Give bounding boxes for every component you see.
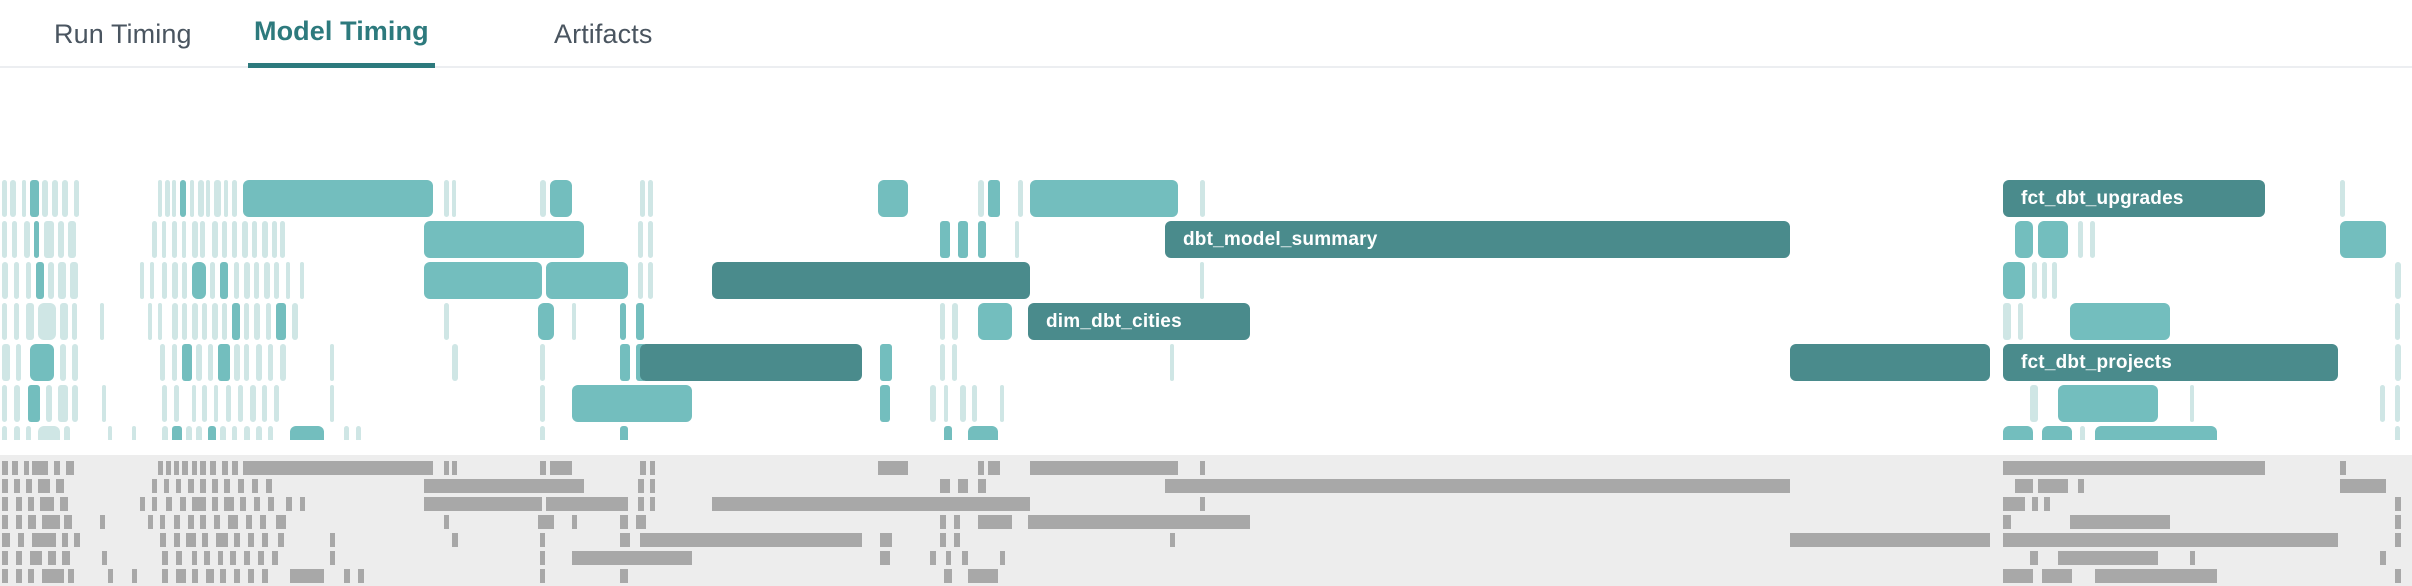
gantt-bar[interactable]	[192, 303, 198, 340]
minimap-bar	[240, 497, 246, 511]
gantt-bar[interactable]	[222, 221, 227, 258]
minimap-bar	[2340, 461, 2346, 475]
minimap-bar	[174, 461, 179, 475]
gantt-bar[interactable]	[226, 385, 231, 422]
gantt-bar[interactable]	[2190, 385, 2194, 422]
gantt-bar[interactable]	[186, 426, 192, 440]
gantt-bar[interactable]	[978, 180, 984, 217]
gantt-bar[interactable]	[356, 426, 361, 440]
minimap-bar	[234, 533, 240, 547]
gantt-bar[interactable]	[160, 344, 165, 381]
gantt-bar[interactable]	[172, 426, 182, 440]
gantt-bar[interactable]	[62, 180, 68, 217]
gantt-bar[interactable]	[70, 262, 78, 299]
gantt-bar[interactable]	[2042, 262, 2047, 299]
gantt-bar[interactable]	[196, 344, 202, 381]
tab-run-timing[interactable]: Run Timing	[48, 0, 198, 68]
gantt-bar[interactable]	[214, 180, 221, 217]
gantt-bar[interactable]	[272, 221, 277, 258]
gantt-bar[interactable]	[26, 426, 31, 440]
gantt-bar[interactable]	[16, 344, 21, 381]
gantt-bar[interactable]	[36, 262, 44, 299]
gantt-bar[interactable]	[2078, 221, 2083, 258]
gantt-bar[interactable]	[1015, 221, 1019, 258]
gantt-bar[interactable]	[256, 344, 262, 381]
gantt-bar[interactable]	[968, 426, 998, 440]
gantt-bar[interactable]	[234, 344, 240, 381]
gantt-bar[interactable]	[174, 385, 179, 422]
gantt-bar[interactable]	[1170, 344, 1174, 381]
gantt-bar[interactable]	[250, 385, 256, 422]
gantt-bar[interactable]	[22, 180, 26, 217]
gantt-bar[interactable]	[182, 221, 186, 258]
minimap-bar	[28, 515, 36, 529]
gantt-bar[interactable]	[1000, 385, 1004, 422]
minimap-bar	[152, 497, 157, 511]
gantt-bar[interactable]	[540, 426, 545, 440]
minimap-bar	[224, 479, 230, 493]
minimap-bar	[228, 515, 238, 529]
gantt-bar[interactable]	[572, 385, 692, 422]
gantt-bar[interactable]	[196, 426, 202, 440]
gantt-bar[interactable]	[940, 303, 945, 340]
minimap-bar	[54, 461, 60, 475]
minimap-bar	[2, 461, 8, 475]
minimap-bar	[244, 551, 250, 565]
gantt-bar[interactable]	[244, 262, 250, 299]
gantt-bar[interactable]	[274, 262, 279, 299]
gantt-bar[interactable]	[192, 262, 206, 299]
gantt-bar[interactable]	[182, 303, 187, 340]
minimap-bar	[192, 461, 197, 475]
gantt-bar[interactable]	[242, 221, 248, 258]
gantt-bar[interactable]	[2, 262, 8, 299]
minimap-bar	[930, 551, 936, 565]
gantt-bar[interactable]	[2090, 221, 2095, 258]
gantt-bar[interactable]	[58, 262, 66, 299]
gantt-bar[interactable]	[572, 303, 576, 340]
gantt-bar[interactable]	[2003, 303, 2011, 340]
gantt-bar[interactable]	[58, 221, 64, 258]
gantt-bar[interactable]	[2395, 303, 2400, 340]
gantt-bar[interactable]	[1790, 344, 1990, 381]
gantt-bar[interactable]	[232, 426, 237, 440]
minimap-bar	[978, 479, 986, 493]
gantt-bar[interactable]	[2395, 385, 2400, 422]
gantt-bar[interactable]	[14, 426, 20, 440]
minimap-bar	[424, 479, 584, 493]
minimap-bar	[640, 533, 862, 547]
tab-artifacts[interactable]: Artifacts	[548, 0, 658, 68]
gantt-bar[interactable]	[222, 303, 227, 340]
minimap-bar	[66, 461, 74, 475]
minimap-bar	[330, 551, 335, 565]
gantt-bar[interactable]	[1030, 180, 1178, 217]
gantt-bar[interactable]	[330, 385, 334, 422]
gantt-bar[interactable]	[1200, 180, 1205, 217]
minimap-bar	[2003, 461, 2265, 475]
gantt-bar[interactable]	[2032, 262, 2037, 299]
gantt-bar[interactable]	[2080, 426, 2085, 440]
minimap-bar	[2395, 533, 2401, 547]
gantt-plot-area[interactable]: fct_dbt_upgradesdbt_model_summarydim_dbt…	[0, 70, 2412, 420]
gantt-bar[interactable]	[648, 262, 653, 299]
gantt-bar[interactable]	[940, 344, 945, 381]
gantt-bar[interactable]	[286, 262, 290, 299]
minimap-bar	[940, 533, 946, 547]
gantt-bar[interactable]	[2052, 262, 2057, 299]
gantt-bar[interactable]	[254, 303, 260, 340]
minimap-bar	[2, 551, 8, 565]
gantt-bar[interactable]	[638, 262, 643, 299]
gantt-bar[interactable]	[2, 426, 7, 440]
gantt-bar[interactable]	[944, 385, 948, 422]
gantt-bar[interactable]	[262, 385, 267, 422]
gantt-bar[interactable]	[24, 221, 30, 258]
gantt-bar[interactable]	[60, 303, 68, 340]
gantt-bar[interactable]	[2, 344, 10, 381]
gantt-bar[interactable]	[540, 385, 545, 422]
gantt-bar[interactable]	[540, 344, 545, 381]
gantt-bar[interactable]	[26, 262, 31, 299]
minimap-bar	[278, 533, 284, 547]
minimap-bar	[2, 533, 10, 547]
gantt-bar[interactable]	[30, 180, 39, 217]
gantt-bar[interactable]	[198, 180, 204, 217]
gantt-bar-label: fct_dbt_upgrades	[2021, 188, 2184, 210]
gantt-bar[interactable]	[158, 180, 162, 217]
gantt-bar[interactable]	[102, 385, 106, 422]
gantt-bar[interactable]	[300, 262, 304, 299]
gantt-bar[interactable]	[640, 344, 862, 381]
gantt-bar[interactable]	[180, 180, 186, 217]
gantt-bar[interactable]	[108, 426, 112, 440]
gantt-bar[interactable]	[268, 344, 273, 381]
gantt-bar[interactable]	[256, 426, 262, 440]
minimap-bar	[1165, 479, 1790, 493]
gantt-bar[interactable]	[238, 385, 243, 422]
minimap-bar	[32, 461, 48, 475]
gantt-bar[interactable]	[648, 180, 653, 217]
gantt-bar[interactable]	[14, 303, 19, 340]
gantt-bar[interactable]	[34, 221, 39, 258]
gantt-bar[interactable]	[162, 262, 167, 299]
gantt-bar[interactable]	[2058, 385, 2158, 422]
minimap-bar	[620, 515, 628, 529]
minimap-bar	[424, 497, 542, 511]
gantt-bar[interactable]	[100, 303, 104, 340]
gantt-bar[interactable]	[44, 221, 54, 258]
gantt-bar[interactable]	[266, 303, 271, 340]
gantt-bar[interactable]	[224, 180, 228, 217]
gantt-bar[interactable]	[2340, 180, 2345, 217]
gantt-bar[interactable]	[264, 262, 270, 299]
gantt-bar[interactable]	[208, 344, 213, 381]
gantt-bar[interactable]	[452, 180, 456, 217]
gantt-bar[interactable]	[2042, 426, 2072, 440]
gantt-bar[interactable]	[152, 221, 157, 258]
minimap-bar	[16, 515, 22, 529]
minimap-bar	[2003, 515, 2011, 529]
gantt-bar[interactable]	[2003, 426, 2033, 440]
gantt-bar[interactable]	[958, 221, 968, 258]
gantt-bar[interactable]	[2003, 262, 2025, 299]
gantt-bar[interactable]	[424, 221, 584, 258]
gantt-bar[interactable]	[2038, 221, 2068, 258]
minimap-bar	[540, 533, 545, 547]
gantt-bar[interactable]	[452, 344, 458, 381]
gantt-bar[interactable]	[162, 221, 166, 258]
gantt-bar[interactable]	[214, 385, 218, 422]
gantt-bar[interactable]	[58, 385, 68, 422]
gantt-bar[interactable]	[280, 221, 285, 258]
gantt-bar[interactable]	[42, 180, 48, 217]
minimap-bar	[64, 515, 72, 529]
gantt-bar[interactable]	[172, 221, 177, 258]
gantt-bar[interactable]	[254, 262, 259, 299]
gantt-bar[interactable]	[2018, 303, 2023, 340]
tab-model-timing[interactable]: Model Timing	[248, 0, 435, 68]
gantt-bar[interactable]	[878, 180, 908, 217]
gantt-bar[interactable]	[978, 303, 1012, 340]
minimap-bar	[272, 551, 278, 565]
minimap-bar	[880, 533, 892, 547]
minimap-bar	[1170, 533, 1175, 547]
gantt-bar[interactable]	[72, 303, 77, 340]
gantt-bar[interactable]	[952, 344, 957, 381]
gantt-bar[interactable]	[14, 262, 19, 299]
gantt-bar[interactable]	[2070, 303, 2170, 340]
gantt-bar[interactable]	[232, 221, 237, 258]
gantt-bar[interactable]	[424, 262, 542, 299]
gantt-bar[interactable]	[940, 221, 950, 258]
gantt-bar[interactable]	[48, 262, 54, 299]
gantt-bar[interactable]	[2015, 221, 2033, 258]
gantt-bar[interactable]	[640, 180, 645, 217]
gantt-bar[interactable]	[978, 221, 986, 258]
gantt-bar[interactable]	[60, 344, 66, 381]
gantt-bar[interactable]	[162, 385, 167, 422]
gantt-bar[interactable]	[2, 385, 7, 422]
gantt-bar[interactable]	[202, 303, 207, 340]
minimap-bar	[238, 479, 244, 493]
gantt-bar[interactable]	[52, 180, 58, 217]
minimap-bar	[258, 551, 264, 565]
minimap-bar	[2042, 569, 2072, 583]
gantt-bar[interactable]	[274, 385, 279, 422]
gantt-bar[interactable]	[10, 180, 16, 217]
gantt-bar[interactable]	[880, 385, 890, 422]
gantt-bar[interactable]	[208, 426, 216, 440]
minimap-bar	[650, 461, 655, 475]
gantt-bar[interactable]	[252, 221, 257, 258]
minimap-bar	[2340, 479, 2386, 493]
gantt-bar[interactable]	[64, 426, 70, 440]
minimap-bar	[2395, 497, 2401, 511]
minimap-bar	[40, 497, 54, 511]
minimap-bar	[16, 497, 22, 511]
gantt-bar[interactable]	[244, 426, 250, 440]
gantt-bar[interactable]	[2395, 344, 2401, 381]
gantt-bar[interactable]	[2, 303, 7, 340]
gantt-bar[interactable]	[182, 262, 187, 299]
gantt-bar[interactable]	[172, 344, 177, 381]
gantt-bar[interactable]	[243, 180, 433, 217]
minimap-bar	[160, 515, 165, 529]
gantt-bar[interactable]	[1200, 262, 1204, 299]
gantt-bar[interactable]	[290, 426, 324, 440]
minimap-bar	[232, 461, 238, 475]
gantt-bar[interactable]	[72, 385, 78, 422]
minimap-bar	[174, 515, 180, 529]
minimap-bar	[2, 479, 8, 493]
gantt-bar[interactable]	[172, 180, 176, 217]
gantt-bar[interactable]	[344, 426, 349, 440]
gantt-bar[interactable]	[68, 221, 76, 258]
minimap-bar	[38, 479, 50, 493]
gantt-bar[interactable]	[28, 385, 40, 422]
gantt-bar[interactable]	[165, 180, 170, 217]
gantt-bar[interactable]	[268, 426, 273, 440]
gantt-bar[interactable]	[212, 221, 218, 258]
gantt-bar-dim_dbt_cities[interactable]: dim_dbt_cities	[1028, 303, 1250, 340]
gantt-bar[interactable]	[2030, 385, 2038, 422]
minimap-bar	[2190, 551, 2195, 565]
gantt-bar[interactable]	[262, 221, 268, 258]
minimap-bar	[540, 551, 545, 565]
gantt-bar[interactable]	[620, 426, 628, 440]
gantt-bar[interactable]	[220, 262, 228, 299]
minimap-bar	[68, 569, 74, 583]
gantt-bar[interactable]	[210, 262, 215, 299]
gantt-bar[interactable]	[2380, 385, 2385, 422]
gantt-bar[interactable]	[232, 303, 240, 340]
gantt-bar[interactable]	[172, 262, 178, 299]
gantt-bar[interactable]	[150, 262, 154, 299]
minimap-bar	[946, 551, 951, 565]
gantt-bar[interactable]	[148, 303, 152, 340]
gantt-bar[interactable]	[172, 303, 178, 340]
gantt-bar[interactable]	[2395, 262, 2401, 299]
gantt-bar[interactable]	[200, 221, 205, 258]
gantt-bar[interactable]	[444, 180, 449, 217]
gantt-bar[interactable]	[212, 303, 218, 340]
gantt-bar[interactable]	[46, 385, 52, 422]
gantt-bar[interactable]	[38, 303, 56, 340]
minimap-bar	[940, 515, 946, 529]
gantt-bar[interactable]	[2340, 221, 2386, 258]
gantt-bar[interactable]	[234, 262, 239, 299]
gantt-bar[interactable]	[190, 180, 194, 217]
minimap-bar	[1200, 497, 1205, 511]
gantt-bar[interactable]	[38, 426, 60, 440]
gantt-bar[interactable]	[158, 303, 162, 340]
gantt-bar[interactable]	[952, 303, 958, 340]
tab-model-timing-label: Model Timing	[254, 16, 429, 47]
gantt-bar[interactable]	[930, 385, 936, 422]
gantt-bar[interactable]	[330, 344, 334, 381]
gantt-bar[interactable]	[292, 303, 298, 340]
minimap-bar	[176, 479, 181, 493]
gantt-bar[interactable]	[140, 262, 144, 299]
gantt-bar[interactable]	[244, 303, 249, 340]
gantt-bar[interactable]	[2, 180, 7, 217]
gantt-bar[interactable]	[206, 180, 210, 217]
gantt-bar[interactable]	[132, 426, 136, 440]
gantt-bar[interactable]	[192, 385, 196, 422]
gantt-bar[interactable]	[14, 385, 20, 422]
minimap-bar	[2003, 569, 2033, 583]
gantt-bar[interactable]	[636, 303, 644, 340]
gantt-bar[interactable]	[280, 344, 286, 381]
gantt-bar[interactable]	[1018, 180, 1023, 217]
gantt-bar[interactable]	[74, 180, 79, 217]
minimap-bar	[2, 569, 8, 583]
gantt-bar[interactable]	[620, 344, 630, 381]
minimap-bar	[246, 515, 252, 529]
gantt-bar[interactable]	[232, 180, 237, 217]
gantt-bar[interactable]	[638, 221, 643, 258]
gantt-bar[interactable]	[182, 344, 192, 381]
gantt-bar-fct_dbt_upgrades[interactable]: fct_dbt_upgrades	[2003, 180, 2265, 217]
minimap-bar	[202, 533, 208, 547]
gantt-bar[interactable]	[276, 303, 286, 340]
minimap-bar	[978, 515, 1012, 529]
gantt-bar[interactable]	[648, 221, 653, 258]
gantt-bar[interactable]	[26, 303, 34, 340]
gantt-bar[interactable]	[546, 262, 628, 299]
gantt-bar[interactable]	[960, 385, 966, 422]
gantt-bar[interactable]	[540, 180, 546, 217]
minimap-bar	[358, 569, 364, 583]
minimap-bar	[216, 533, 228, 547]
gantt-bar[interactable]	[972, 385, 977, 422]
gantt-bar[interactable]	[162, 426, 168, 440]
minimap-bar	[42, 569, 64, 583]
gantt-bar[interactable]	[2, 221, 7, 258]
model-timing-gantt-chart[interactable]: fct_dbt_upgradesdbt_model_summarydim_dbt…	[0, 70, 2412, 440]
gantt-bar-dbt_model_summary[interactable]: dbt_model_summary	[1165, 221, 1790, 258]
minimap-bar	[248, 533, 254, 547]
gantt-bar[interactable]	[202, 385, 207, 422]
gantt-bar[interactable]	[712, 262, 1030, 299]
gantt-bar[interactable]	[218, 344, 230, 381]
gantt-bar[interactable]	[880, 344, 892, 381]
gantt-bar[interactable]	[192, 221, 198, 258]
minimap-bar	[1790, 533, 1990, 547]
gantt-bar[interactable]	[444, 303, 449, 340]
gantt-bar[interactable]	[220, 426, 226, 440]
gantt-bar[interactable]	[30, 344, 54, 381]
gantt-bar[interactable]	[2395, 426, 2400, 440]
gantt-bar[interactable]	[538, 303, 554, 340]
minimap-bar	[276, 515, 286, 529]
gantt-bar-fct_dbt_projects[interactable]: fct_dbt_projects	[2003, 344, 2338, 381]
gantt-bar[interactable]	[620, 303, 626, 340]
gantt-minimap[interactable]	[0, 455, 2412, 586]
gantt-bar[interactable]	[944, 426, 952, 440]
gantt-bar[interactable]	[72, 344, 78, 381]
minimap-bar	[30, 551, 42, 565]
gantt-bar[interactable]	[988, 180, 1000, 217]
minimap-bar	[74, 533, 80, 547]
gantt-bar[interactable]	[550, 180, 572, 217]
gantt-bar[interactable]	[12, 221, 17, 258]
gantt-bar[interactable]	[2095, 426, 2217, 440]
gantt-bar[interactable]	[244, 344, 249, 381]
minimap-bar	[954, 533, 960, 547]
minimap-bar	[2395, 569, 2401, 583]
